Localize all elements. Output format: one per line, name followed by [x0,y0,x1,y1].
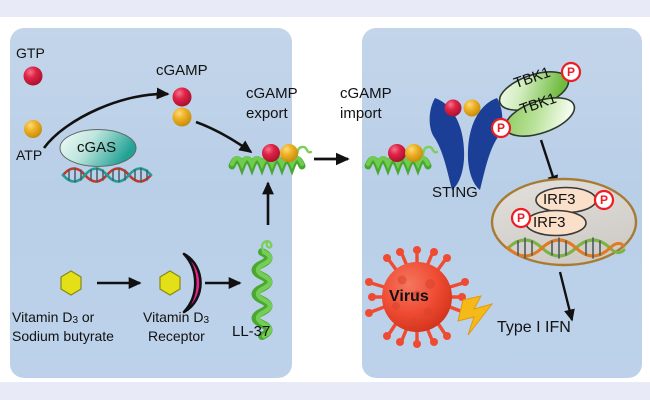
irf3-bottom-label: IRF3 [533,215,566,230]
cgamp-import-label-line2: import [340,106,382,121]
cgamp-export-label-line2: export [246,106,288,121]
ifn-transcription-arrow [560,272,572,320]
type-i-ifn-label: Type I IFN [497,320,571,335]
cgamp-loading-arrow [196,122,251,152]
dna-helix-cgas [63,168,151,182]
cgamp-guanosine-moiety [173,88,192,107]
cgamp-import-label-line1: cGAMP [340,86,392,101]
vdr-label-text: Vitamin D [143,309,203,325]
vdr-label-line2: Receptor [148,329,205,344]
phospho-tbk1-bottom-label: P [497,121,505,136]
cgamp-label: cGAMP [156,63,208,78]
cgamp-export-label-line1: cGAMP [246,86,298,101]
vitamin-d3-label-or: or [78,309,94,325]
sting-bound-cgamp-a [445,100,462,117]
irf3-top-label: IRF3 [543,192,576,207]
sodium-butyrate-label: Sodium butyrate [12,329,114,344]
sting-label: STING [432,185,478,200]
sting-bound-cgamp-b [464,100,481,117]
ll37-cgamp-complex-recipient [368,144,437,166]
cgas-label: cGAS [77,140,116,155]
vitamin-d3-receptor [160,254,201,312]
vdr-label-line1: Vitamin D3 [143,310,209,328]
phospho-irf3-top-label: P [600,193,608,208]
atp-molecule [24,120,42,138]
phospho-tbk1-top-label: P [567,65,575,80]
virus-label: Virus [389,289,429,304]
vitamin-d3-label-text: Vitamin D [12,309,72,325]
gtp-molecule [24,67,43,86]
ll37-peptide [256,241,272,336]
cgamp-adenosine-moiety [173,108,192,127]
lightning-bolt-icon [458,296,492,335]
vitamin-d3-label-line1: Vitamin D3 or [12,310,94,328]
atp-label: ATP [16,148,42,163]
ll37-label: LL-37 [232,324,270,339]
vdr-subscript: 3 [203,315,209,326]
figure-canvas: GTP ATP cGAS cGAMP cGAMP export Vitamin … [0,0,650,400]
phospho-irf3-bottom-label: P [517,211,525,226]
vitamin-d3-hexagon [61,271,81,295]
gtp-label: GTP [16,46,45,61]
